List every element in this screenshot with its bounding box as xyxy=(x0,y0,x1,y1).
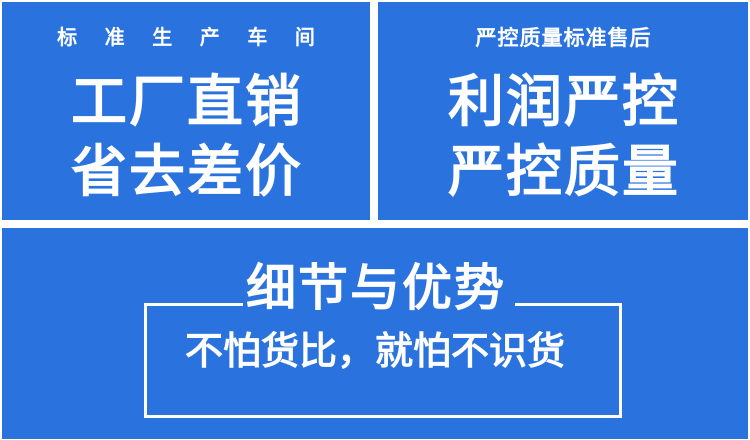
factory-eyebrow-text: 标 准 生 产 车 间 xyxy=(2,28,370,48)
quality-eyebrow-text: 严控质量标准售后 xyxy=(378,28,748,49)
panel-quality-control: 严控质量标准售后 利润严控 严控质量 xyxy=(378,2,748,220)
factory-headline-line-1: 工厂直销 xyxy=(2,74,370,130)
details-title-text: 细节与优势 xyxy=(2,263,748,313)
factory-headline-line-2: 省去差价 xyxy=(2,144,370,200)
details-subtitle-text: 不怕货比，就怕不识货 xyxy=(2,333,748,371)
promo-banner: 标 准 生 产 车 间 工厂直销 省去差价 严控质量标准售后 利润严控 严控质量… xyxy=(0,0,750,440)
panel-factory-direct-sales: 标 准 生 产 车 间 工厂直销 省去差价 xyxy=(2,2,370,220)
quality-headline-line-2: 严控质量 xyxy=(378,144,748,200)
panel-details-and-advantages: 细节与优势 不怕货比，就怕不识货 xyxy=(2,228,748,439)
quality-headline-line-1: 利润严控 xyxy=(378,74,748,130)
